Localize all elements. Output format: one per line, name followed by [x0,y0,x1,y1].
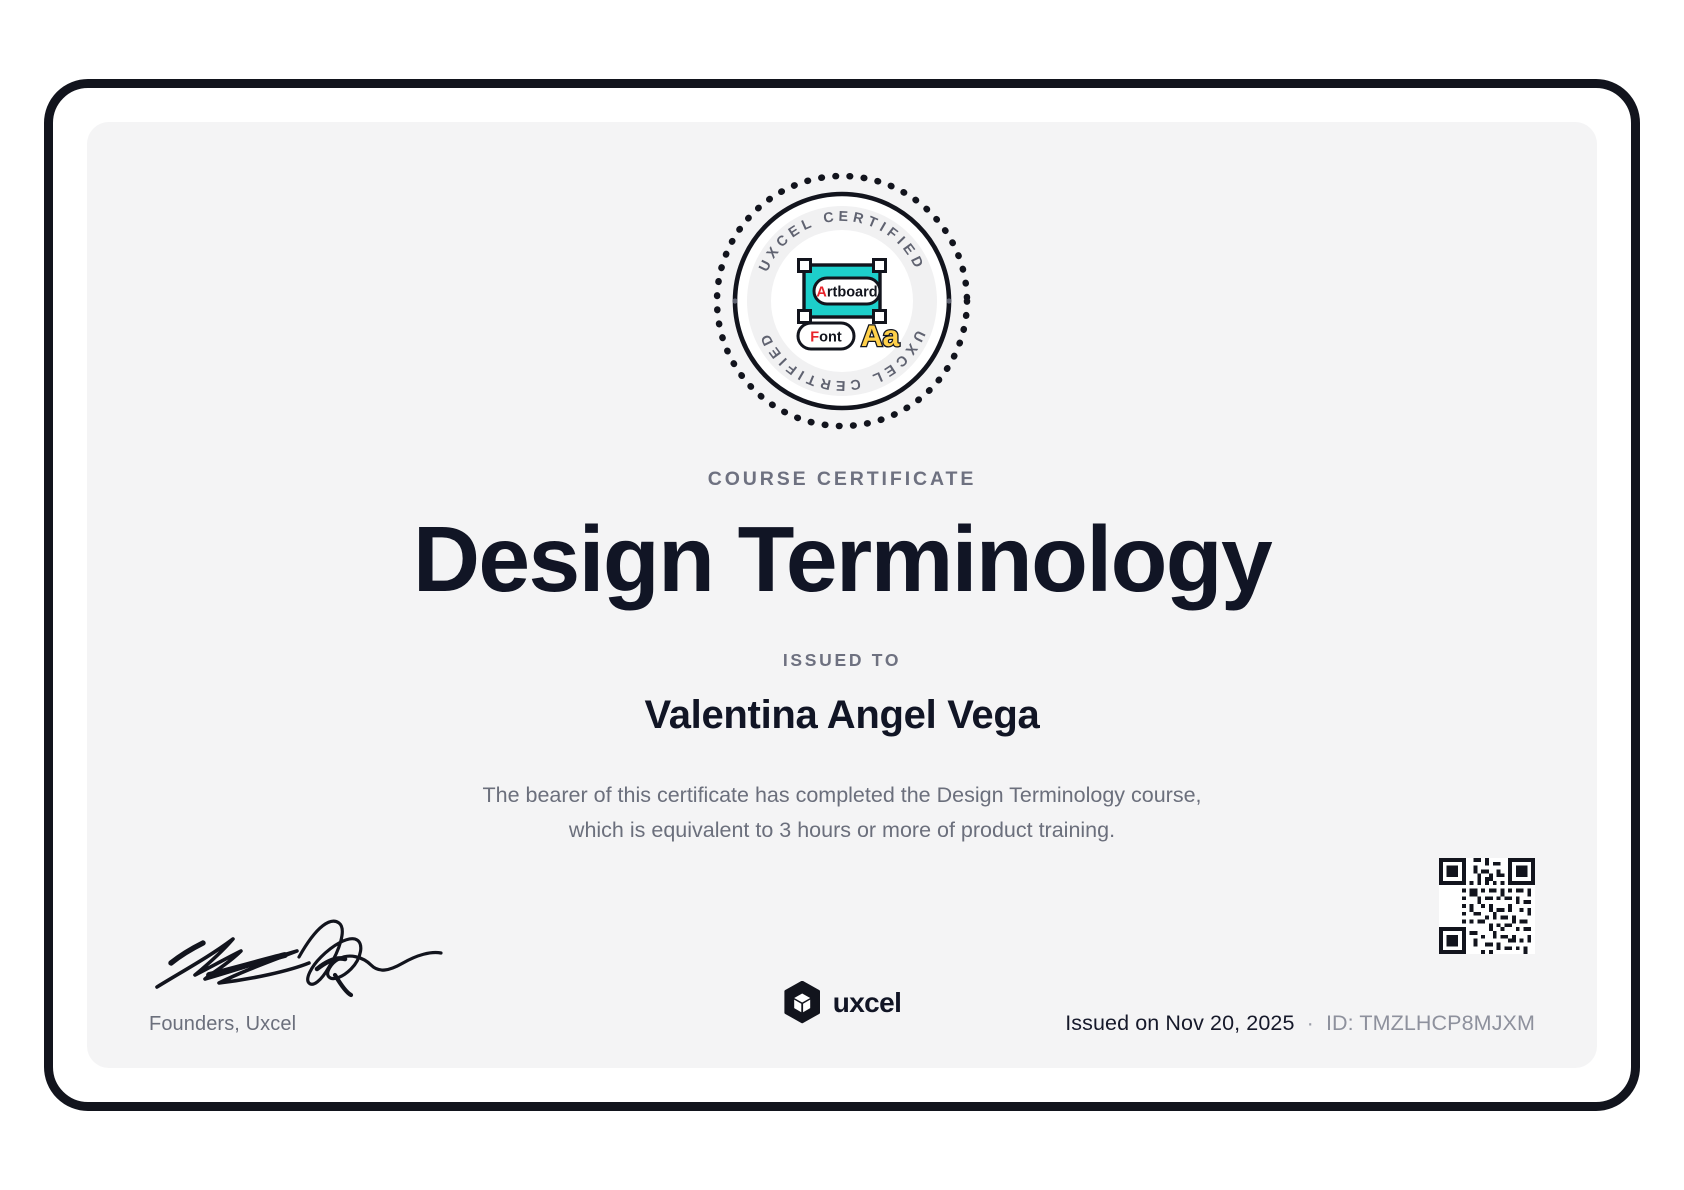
issue-details: Issued on Nov 20, 2025 · ID: TMZLHCP8MJX… [895,1011,1535,1036]
seal-bullet-right [946,298,951,303]
recipient-name: Valentina Angel Vega [645,693,1040,738]
credential-id: ID: TMZLHCP8MJXM [1326,1011,1535,1035]
artboard-icon: Artboard [799,260,886,323]
uxcel-wordmark: uxcel [833,987,902,1019]
signature-caption: Founders, Uxcel [149,1013,569,1036]
certificate-type-label: COURSE CERTIFICATE [708,468,977,491]
description-line-1: The bearer of this certificate has compl… [482,783,1201,807]
issued-to-label: ISSUED TO [783,650,901,671]
founders-signature-icon [149,913,449,999]
uxcel-logo-icon [783,981,822,1024]
seal-bullet-left [732,298,737,303]
uxcel-brand: uxcel [783,981,902,1024]
certificate-footer: Founders, Uxcel uxcel [147,856,1537,1036]
font-label: Font [810,330,842,346]
certificate-inner-panel: UXCEL CERTIFIED UXCEL CERTIFIED [87,122,1597,1068]
issue-separator: · [1301,1011,1320,1035]
issue-info-block: Issued on Nov 20, 2025 · ID: TMZLHCP8MJX… [895,1011,1535,1036]
uxcel-certified-seal: UXCEL CERTIFIED UXCEL CERTIFIED [711,170,973,432]
font-icon: Font Aa [798,320,900,353]
course-title: Design Terminology [413,513,1271,606]
description-line-2: which is equivalent to 3 hours or more o… [569,818,1115,842]
font-sample: Aa [861,320,900,353]
signature-block: Founders, Uxcel [149,913,569,1036]
issue-date: Issued on Nov 20, 2025 [1065,1011,1294,1035]
artboard-label: Artboard [816,285,877,301]
certificate-description: The bearer of this certificate has compl… [482,778,1201,848]
verification-qr-code[interactable] [1439,858,1535,954]
certificate-content: UXCEL CERTIFIED UXCEL CERTIFIED [87,122,1597,1068]
certificate-page: UXCEL CERTIFIED UXCEL CERTIFIED [0,0,1684,1190]
certificate-frame: UXCEL CERTIFIED UXCEL CERTIFIED [44,79,1640,1111]
